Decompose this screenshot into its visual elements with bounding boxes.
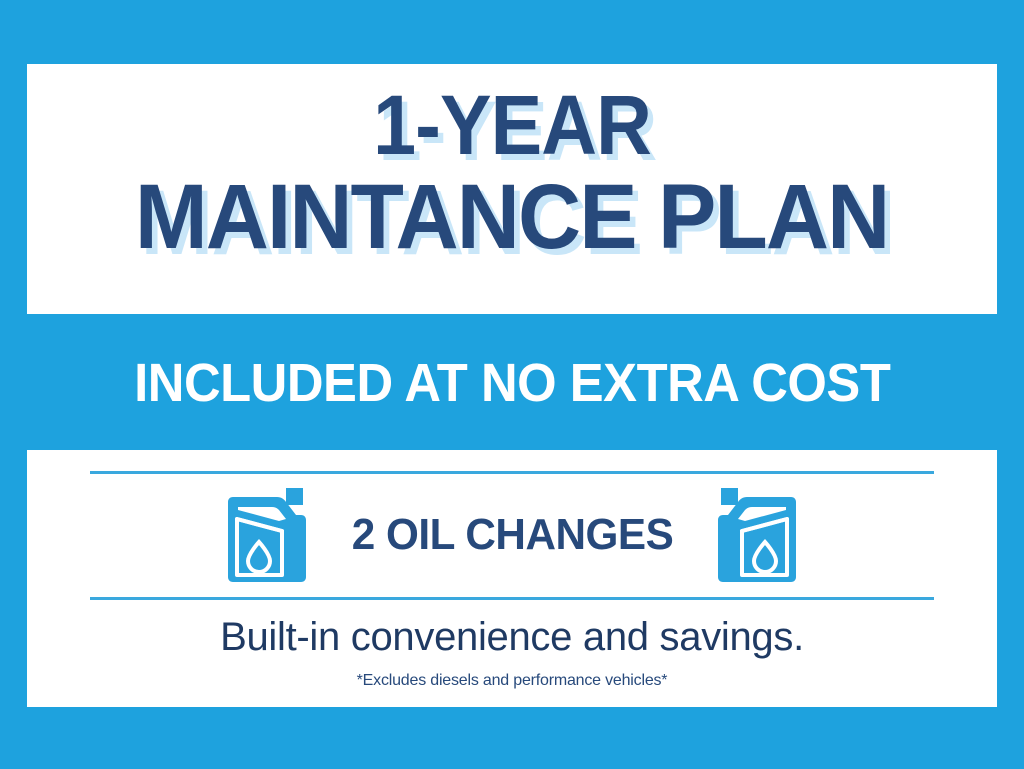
oil-jug-icon (717, 485, 801, 585)
banner-text: INCLUDED AT NO EXTRA COST (134, 352, 890, 414)
tagline: Built-in convenience and savings. (27, 615, 997, 660)
feature-label: 2 OIL CHANGES (351, 510, 673, 560)
feature-row: 2 OIL CHANGES (27, 480, 997, 590)
promo-poster: 1-YEAR MAINTANCE PLAN INCLUDED AT NO EXT… (0, 0, 1024, 769)
headline-line-2: MAINTANCE PLAN (135, 174, 888, 261)
divider-top (90, 471, 934, 474)
headline-card: 1-YEAR MAINTANCE PLAN (27, 64, 997, 314)
divider-bottom (90, 597, 934, 600)
banner-strip: INCLUDED AT NO EXTRA COST (0, 316, 1024, 450)
oil-jug-icon (223, 485, 307, 585)
details-card: 2 OIL CHANGES Built-in convenience and s… (27, 450, 997, 707)
disclaimer: *Excludes diesels and performance vehicl… (27, 672, 997, 690)
headline-line-1: 1-YEAR (373, 86, 651, 166)
